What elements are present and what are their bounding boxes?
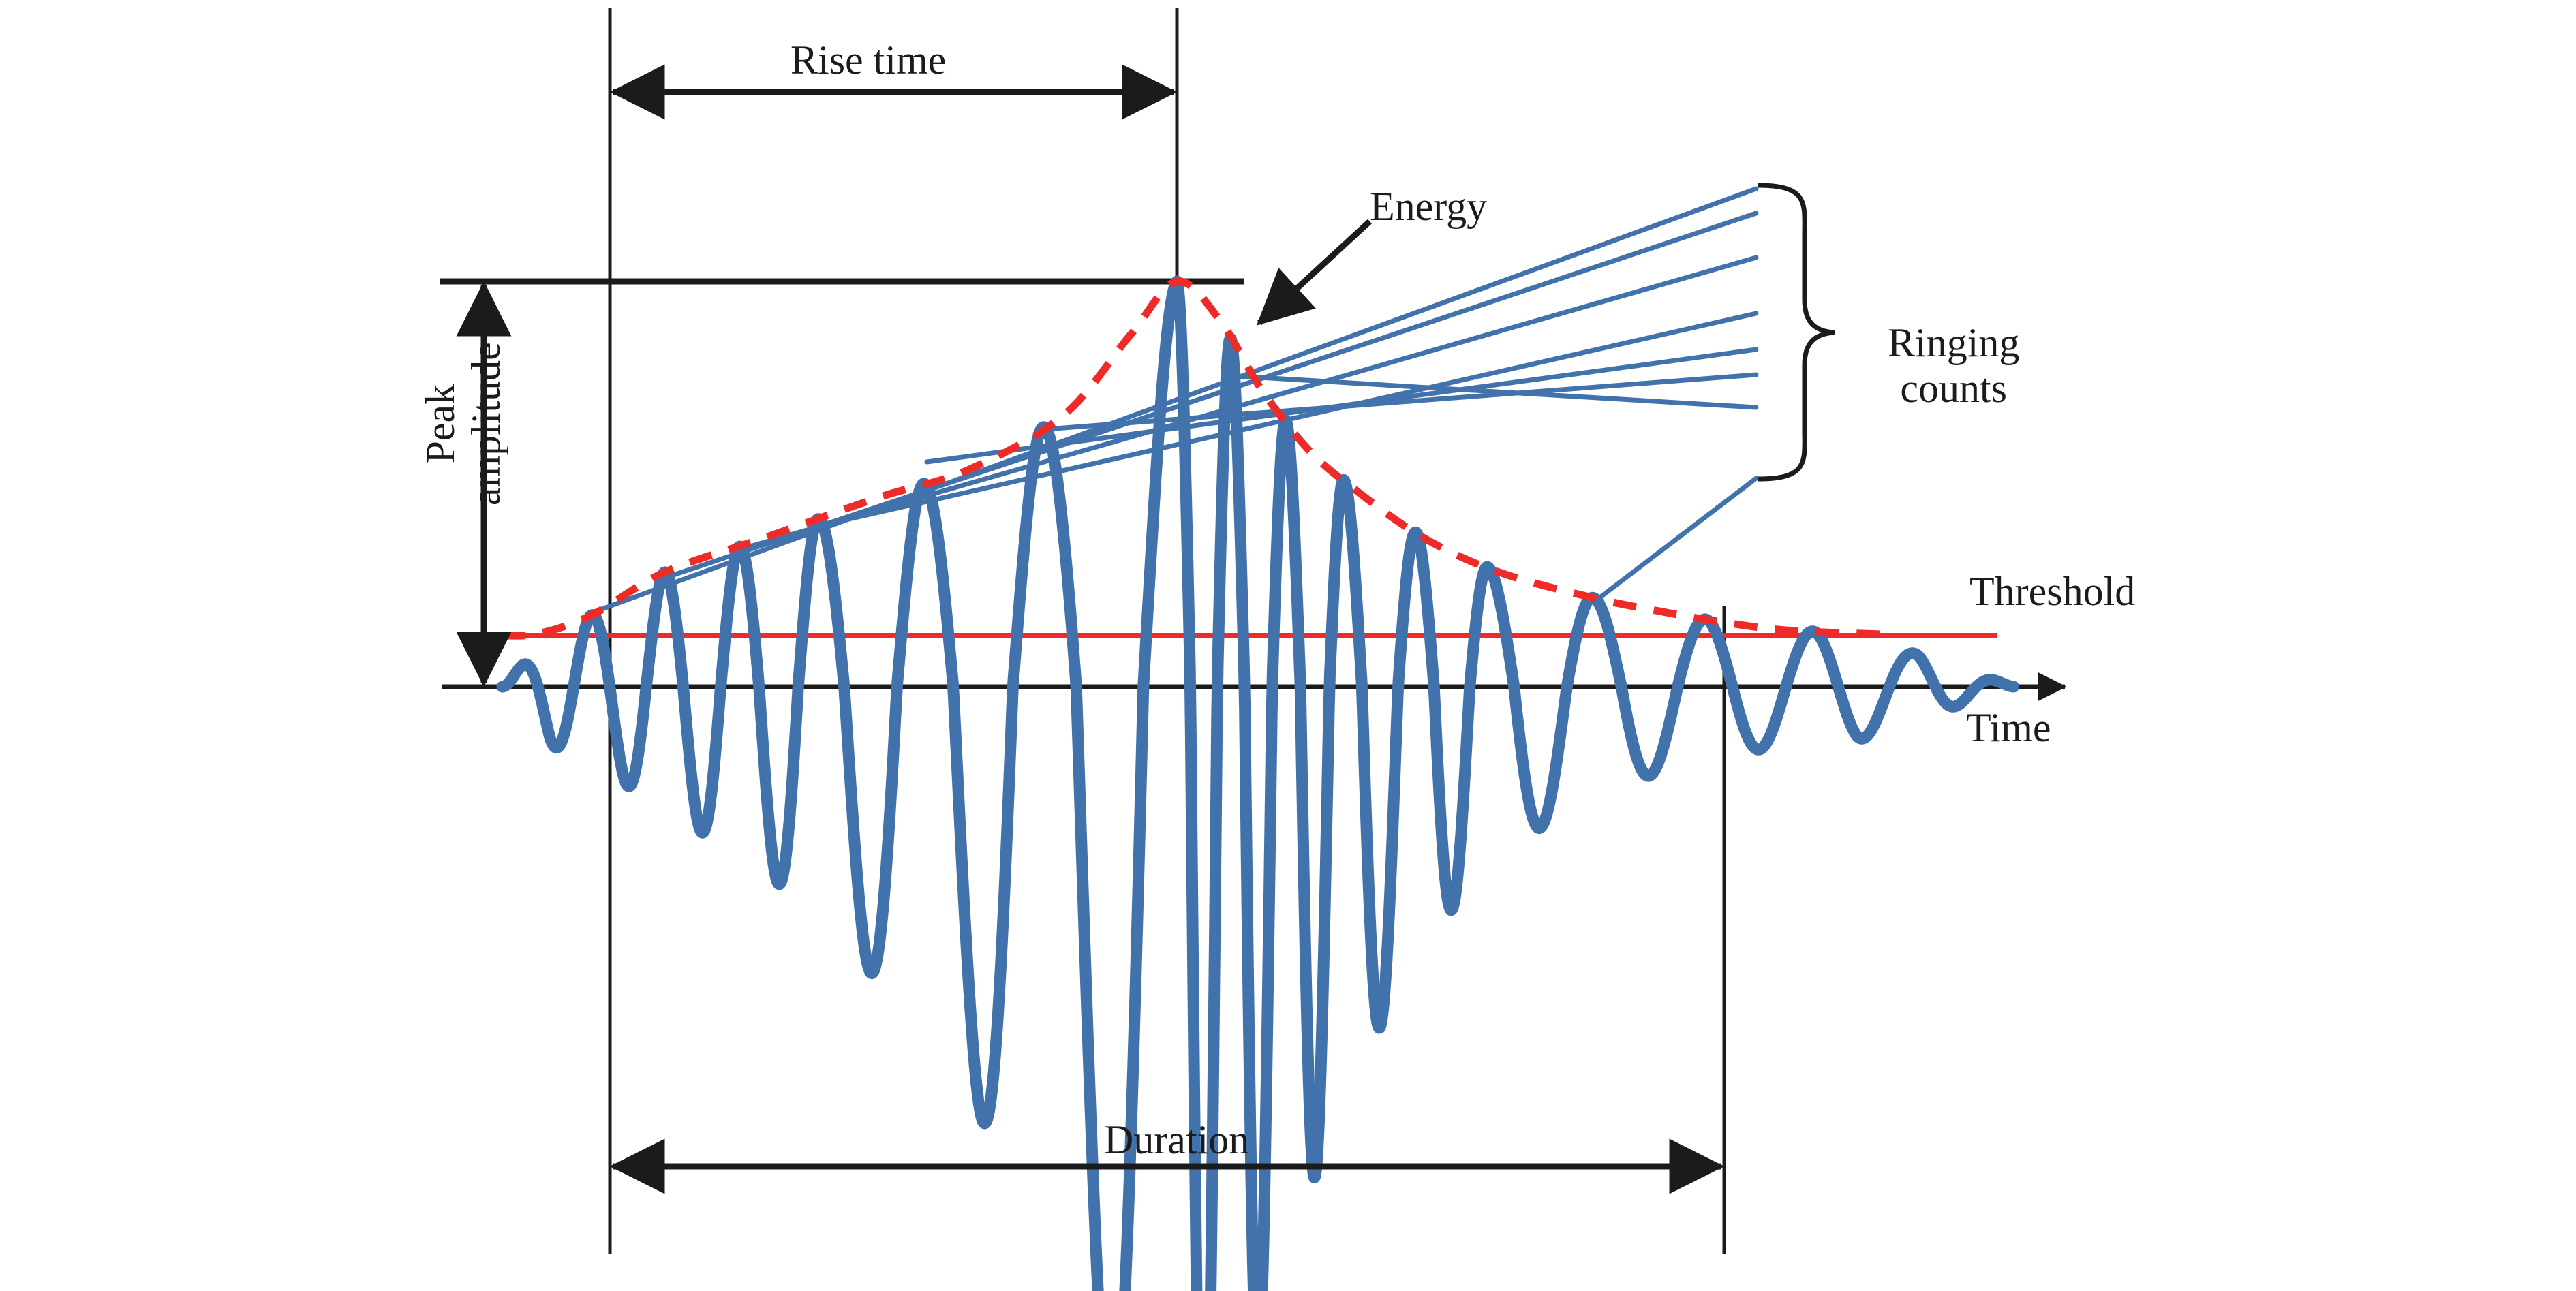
energy-leader-arrow xyxy=(1259,221,1370,323)
peak-amplitude-label: Peak amplitude xyxy=(418,277,509,570)
peak-amplitude-label-line2: amplitude xyxy=(463,277,509,570)
ringing-counts-label-line2: counts xyxy=(1900,366,2007,411)
ringing-counts-label-line1: Ringing xyxy=(1888,320,2019,365)
energy-label: Energy xyxy=(1370,184,1487,230)
ringing-counts-label: Ringing counts xyxy=(1888,320,2019,411)
diagram-svg xyxy=(0,0,2576,1291)
ringing-count-line xyxy=(743,258,1756,548)
figure-canvas: Rise time Energy Ringing counts Threshol… xyxy=(0,0,2576,1291)
acoustic-emission-waveform xyxy=(502,281,2014,1291)
peak-amplitude-label-line1: Peak xyxy=(418,277,463,570)
threshold-label: Threshold xyxy=(1969,569,2135,615)
duration-label: Duration xyxy=(1104,1117,1249,1163)
ringing-count-line xyxy=(1598,478,1756,599)
time-axis-label: Time xyxy=(1966,705,2051,751)
ringing-counts-brace xyxy=(1758,185,1835,479)
rise-time-label: Rise time xyxy=(791,37,946,83)
